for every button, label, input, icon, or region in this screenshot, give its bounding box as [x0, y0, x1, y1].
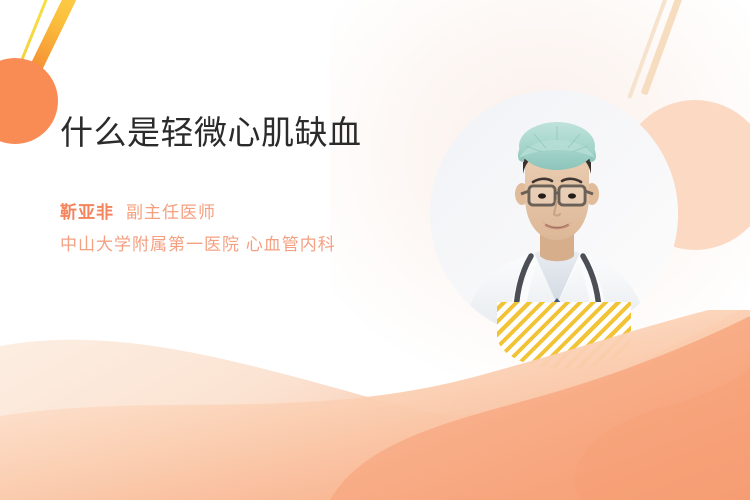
- page-title: 什么是轻微心肌缺血: [60, 112, 410, 153]
- cream-stripe-decoration-2: [641, 0, 691, 95]
- doctor-role: 副主任医师: [126, 203, 216, 222]
- cream-stripe-decoration-1: [627, 0, 672, 99]
- doctor-name: 靳亚非: [60, 203, 114, 222]
- bottom-wave-decoration: [0, 310, 750, 500]
- doctor-byline: 靳亚非副主任医师: [60, 199, 410, 227]
- doctor-photo: [430, 90, 678, 338]
- orange-circle-decoration: [0, 58, 58, 144]
- doctor-affiliation: 中山大学附属第一医院 心血管内科: [60, 231, 410, 259]
- doctor-video-cover-card: 什么是轻微心肌缺血 靳亚非副主任医师 中山大学附属第一医院 心血管内科: [0, 0, 750, 500]
- orange-ribbon-decoration: [17, 0, 85, 98]
- doctor-portrait-illustration: [430, 90, 678, 338]
- doctor-photo-frame: [430, 90, 678, 338]
- yellow-ribbon-decoration: [4, 0, 59, 101]
- text-block: 什么是轻微心肌缺血 靳亚非副主任医师 中山大学附属第一医院 心血管内科: [60, 112, 410, 259]
